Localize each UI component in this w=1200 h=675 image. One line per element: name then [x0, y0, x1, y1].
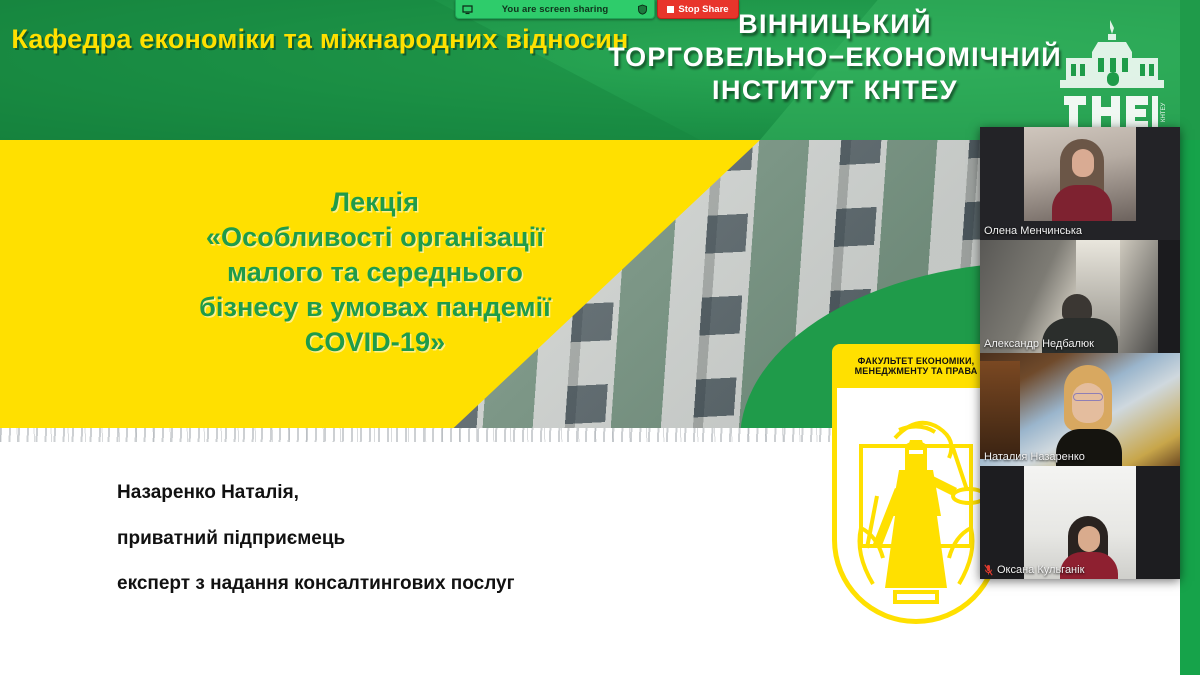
- emblem-band-line2: МЕНЕДЖМЕНТУ ТА ПРАВА: [855, 366, 978, 376]
- participant-video: [980, 127, 1180, 240]
- lecture-title-line3: малого та середнього: [110, 255, 640, 290]
- lecture-title: Лекція «Особливості організації малого т…: [110, 185, 640, 360]
- shield-icon[interactable]: [637, 4, 648, 15]
- svg-text:КНТЕУ: КНТЕУ: [1161, 103, 1167, 122]
- speaker-expertise: експерт з надання консалтингових послуг: [117, 561, 515, 607]
- header-dark-wedge: [0, 0, 700, 140]
- participant-video: [980, 240, 1180, 353]
- institute-title: ВІННИЦЬКИЙ ТОРГОВЕЛЬНО−ЕКОНОМІЧНИЙ ІНСТИ…: [600, 8, 1070, 107]
- screen: Кафедра економіки та міжнародних відноси…: [0, 0, 1200, 675]
- participant-tile[interactable]: Олена Менчинська: [980, 127, 1180, 240]
- right-green-strip-header: [1180, 0, 1200, 140]
- lecture-title-line5: COVID-19»: [110, 325, 640, 360]
- participant-video: [980, 353, 1180, 466]
- screen-share-toolbar[interactable]: You are screen sharing Stop Share: [455, 0, 745, 19]
- participant-tile-active-speaker[interactable]: Наталия Назаренко: [980, 353, 1180, 466]
- lecture-title-line4: бізнесу в умовах пандемії: [110, 290, 640, 325]
- stop-share-button[interactable]: Stop Share: [657, 0, 739, 19]
- faculty-emblem: ФАКУЛЬТЕТ ЕКОНОМІКИ, МЕНЕДЖМЕНТУ ТА ПРАВ…: [832, 344, 1000, 624]
- share-screen-icon: [462, 4, 473, 15]
- participant-name-label: Наталия Назаренко: [984, 451, 1085, 463]
- participant-video: [980, 466, 1180, 579]
- lecture-title-line1: Лекція: [110, 185, 640, 220]
- participant-tile[interactable]: Александр Недбалюк: [980, 240, 1180, 353]
- institute-title-line3: ІНСТИТУТ КНТЕУ: [600, 74, 1070, 107]
- speaker-info: Назаренко Наталія, приватний підприємець…: [117, 470, 515, 607]
- department-title: Кафедра економіки та міжнародних відноси…: [10, 22, 630, 57]
- stop-share-label: Stop Share: [678, 4, 728, 15]
- lady-justice-icon: [837, 384, 995, 616]
- participant-name-label: Александр Недбалюк: [984, 338, 1094, 350]
- participant-name-label: Оксана Кульганік: [984, 564, 1084, 576]
- institute-title-line2: ТОРГОВЕЛЬНО−ЕКОНОМІЧНИЙ: [600, 41, 1070, 74]
- participant-name: Наталия Назаренко: [984, 451, 1085, 463]
- lecture-title-line2: «Особливості організації: [110, 220, 640, 255]
- participant-video-panel[interactable]: Олена Менчинська Александр Недбалюк Ната…: [980, 127, 1180, 579]
- participant-name: Александр Недбалюк: [984, 338, 1094, 350]
- participant-name: Олена Менчинська: [984, 225, 1082, 237]
- participant-name: Оксана Кульганік: [997, 564, 1084, 576]
- emblem-title-band: ФАКУЛЬТЕТ ЕКОНОМІКИ, МЕНЕДЖМЕНТУ ТА ПРАВ…: [832, 344, 1000, 388]
- participant-name-label: Олена Менчинська: [984, 225, 1082, 237]
- participant-tile[interactable]: Оксана Кульганік: [980, 466, 1180, 579]
- speaker-name: Назаренко Наталія,: [117, 470, 515, 516]
- microphone-muted-icon: [984, 564, 993, 576]
- sharing-status-pill[interactable]: You are screen sharing: [455, 0, 655, 19]
- emblem-shield: [832, 384, 1000, 624]
- speaker-role: приватний підприємець: [117, 516, 515, 562]
- sharing-status-text: You are screen sharing: [478, 4, 632, 15]
- vtei-logo-icon: КНТЕУ: [1052, 18, 1177, 136]
- emblem-band-line1: ФАКУЛЬТЕТ ЕКОНОМІКИ,: [858, 356, 975, 366]
- stop-square-icon: [667, 6, 674, 13]
